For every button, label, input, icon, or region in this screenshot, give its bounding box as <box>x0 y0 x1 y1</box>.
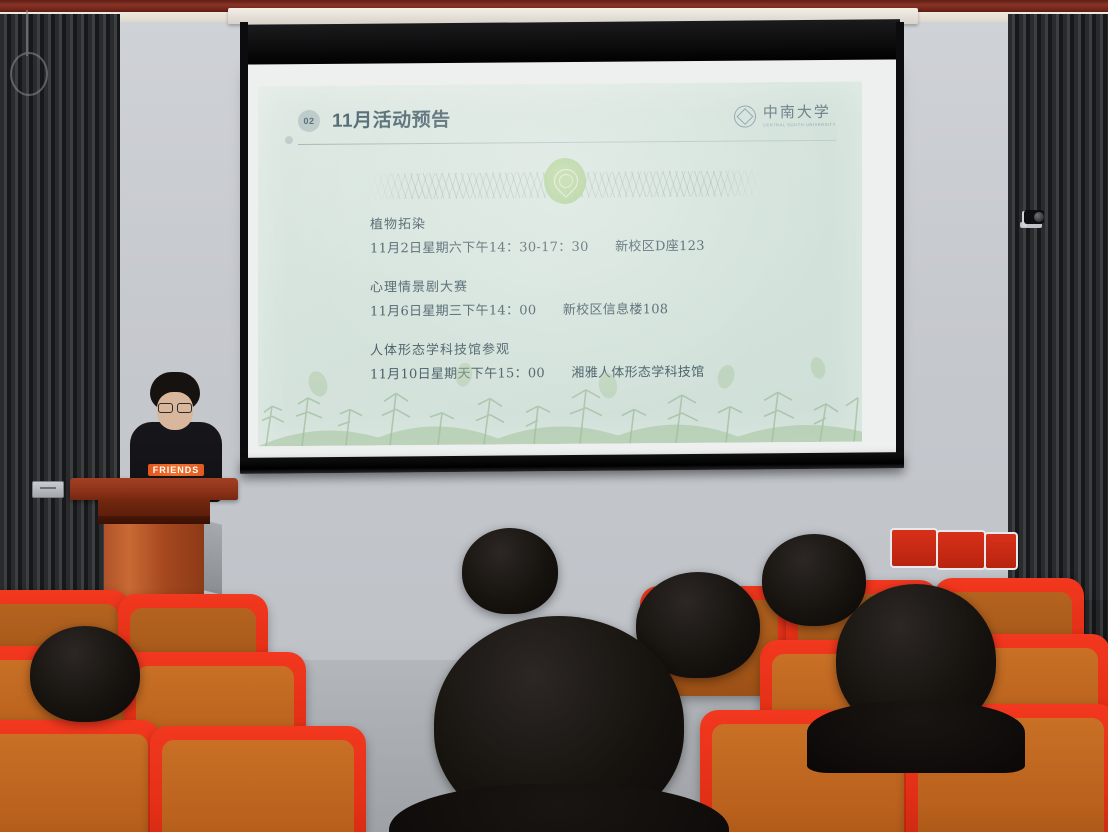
presentation-slide: 02 11月活动预告 中南大学 CENTRAL SOUTH UNIVERSITY… <box>258 82 862 447</box>
entry-datetime: 11月2日星期六下午14：30-17：30 <box>370 240 589 257</box>
entry-detail: 11月2日星期六下午14：30-17：30 新校区D座123 <box>370 234 832 257</box>
wall-hook-icon <box>10 52 48 96</box>
audience-seating <box>0 520 1108 832</box>
podium-top <box>70 478 238 500</box>
table-row <box>890 528 938 568</box>
slide-title: 11月活动预告 <box>332 105 451 133</box>
projector-screen-edge-left <box>240 22 248 462</box>
list-item: 心理情景剧大赛 11月6日星期三下午14：00 新校区信息楼108 <box>370 273 832 320</box>
audience-head <box>762 534 866 626</box>
university-name-cn: 中南大学 <box>763 105 836 121</box>
entry-name: 植物拓染 <box>370 210 832 233</box>
audience-head <box>30 626 140 722</box>
glasses-icon <box>157 403 193 411</box>
podium-neck <box>98 500 210 516</box>
entry-name: 心理情景剧大赛 <box>370 273 832 296</box>
slide-section-badge: 02 <box>298 110 320 132</box>
security-camera-icon <box>1020 208 1046 230</box>
leaf-emblem-icon <box>544 158 586 204</box>
slide-decorative-dot <box>285 136 293 144</box>
wall-outlet-plate <box>32 481 64 498</box>
university-logo: 中南大学 CENTRAL SOUTH UNIVERSITY <box>734 105 836 128</box>
projector-screen-edge-right <box>896 22 904 462</box>
university-name-en: CENTRAL SOUTH UNIVERSITY <box>763 123 836 128</box>
list-item <box>0 720 160 832</box>
entry-venue: 新校区D座123 <box>615 239 705 255</box>
lecture-hall-photo: 02 11月活动预告 中南大学 CENTRAL SOUTH UNIVERSITY… <box>0 0 1108 832</box>
university-emblem-icon <box>734 105 756 127</box>
slide-grass-divider <box>368 156 762 203</box>
hoodie-logo-text: FRIENDS <box>148 464 204 476</box>
table-row <box>936 530 986 570</box>
audience-head <box>836 584 996 734</box>
slide-foliage-border <box>258 350 862 447</box>
audience-head <box>462 528 558 614</box>
slide-header: 02 11月活动预告 中南大学 CENTRAL SOUTH UNIVERSITY <box>298 102 836 146</box>
entry-detail: 11月6日星期三下午14：00 新校区信息楼108 <box>370 297 832 320</box>
list-item <box>150 726 366 832</box>
list-item: 植物拓染 11月2日星期六下午14：30-17：30 新校区D座123 <box>370 210 832 257</box>
audience-head <box>434 616 684 832</box>
entry-datetime: 11月6日星期三下午14：00 <box>370 303 536 319</box>
entry-venue: 新校区信息楼108 <box>563 302 669 318</box>
table-row <box>984 532 1018 570</box>
